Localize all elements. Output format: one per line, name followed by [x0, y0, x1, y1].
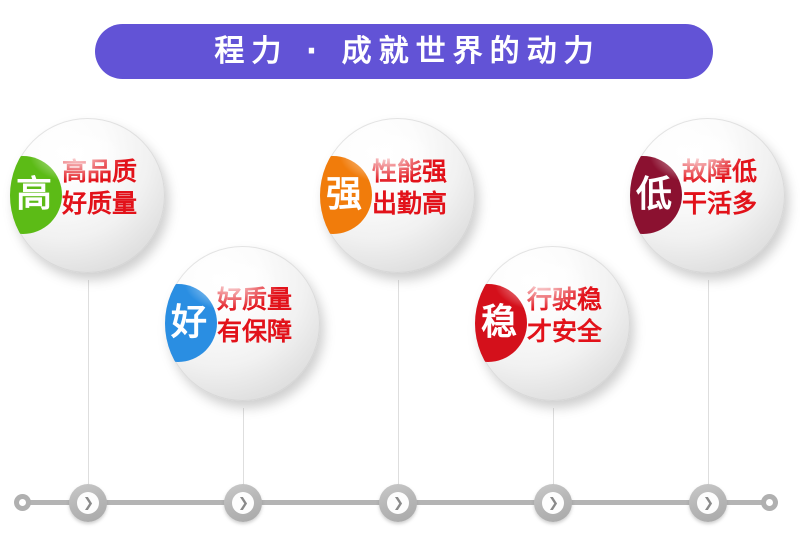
feature-line-1a: 高品质	[62, 156, 162, 188]
timeline-start-ring-icon	[14, 494, 31, 511]
feature-line-2b: 有保障	[217, 316, 317, 348]
feature-bubble-5[interactable]: 低 故障低 干活多	[630, 118, 785, 273]
feature-text-1: 高品质 好质量	[62, 156, 162, 220]
feature-badge-5: 低	[630, 156, 682, 234]
feature-bubble-2[interactable]: 好 好质量 有保障	[165, 246, 320, 401]
header-banner: 程力 · 成就世界的动力	[95, 24, 713, 79]
feature-bubble-4[interactable]: 稳 行驶稳 才安全	[475, 246, 630, 401]
stem-connector-5	[708, 280, 709, 502]
timeline-node-1-inner: ❯	[77, 492, 99, 514]
stem-connector-1	[88, 280, 89, 502]
feature-text-2: 好质量 有保障	[217, 284, 317, 348]
timeline-node-3[interactable]: ❯	[379, 484, 417, 522]
timeline-end-ring-icon	[761, 494, 778, 511]
feature-line-3a: 性能强	[372, 156, 472, 188]
banner-title: 程力 · 成就世界的动力	[207, 37, 600, 67]
feature-line-1b: 好质量	[62, 188, 162, 220]
timeline-node-4[interactable]: ❯	[534, 484, 572, 522]
feature-line-4b: 才安全	[527, 316, 627, 348]
feature-line-5b: 干活多	[682, 188, 782, 220]
feature-text-4: 行驶稳 才安全	[527, 284, 627, 348]
feature-badge-3: 强	[320, 156, 372, 234]
feature-text-3: 性能强 出勤高	[372, 156, 472, 220]
feature-badge-2: 好	[165, 284, 217, 362]
feature-bubble-1[interactable]: 高 高品质 好质量	[10, 118, 165, 273]
chevron-right-icon: ❯	[702, 497, 714, 510]
feature-line-5a: 故障低	[682, 156, 782, 188]
feature-line-4a: 行驶稳	[527, 284, 627, 316]
feature-line-2a: 好质量	[217, 284, 317, 316]
feature-line-3b: 出勤高	[372, 188, 472, 220]
chevron-right-icon: ❯	[82, 497, 94, 510]
timeline-node-1[interactable]: ❯	[69, 484, 107, 522]
feature-badge-4: 稳	[475, 284, 527, 362]
timeline-node-4-inner: ❯	[542, 492, 564, 514]
chevron-right-icon: ❯	[547, 497, 559, 510]
feature-badge-1: 高	[10, 156, 62, 234]
feature-bubble-3[interactable]: 强 性能强 出勤高	[320, 118, 475, 273]
timeline-node-2-inner: ❯	[232, 492, 254, 514]
feature-text-5: 故障低 干活多	[682, 156, 782, 220]
timeline-node-3-inner: ❯	[387, 492, 409, 514]
chevron-right-icon: ❯	[237, 497, 249, 510]
timeline-node-5[interactable]: ❯	[689, 484, 727, 522]
chevron-right-icon: ❯	[392, 497, 404, 510]
stem-connector-3	[398, 280, 399, 502]
timeline-node-5-inner: ❯	[697, 492, 719, 514]
timeline-node-2[interactable]: ❯	[224, 484, 262, 522]
infographic-canvas: 程力 · 成就世界的动力 高 高品质 好质量 好 好质量 有保障 强 性能强 出…	[0, 0, 800, 536]
